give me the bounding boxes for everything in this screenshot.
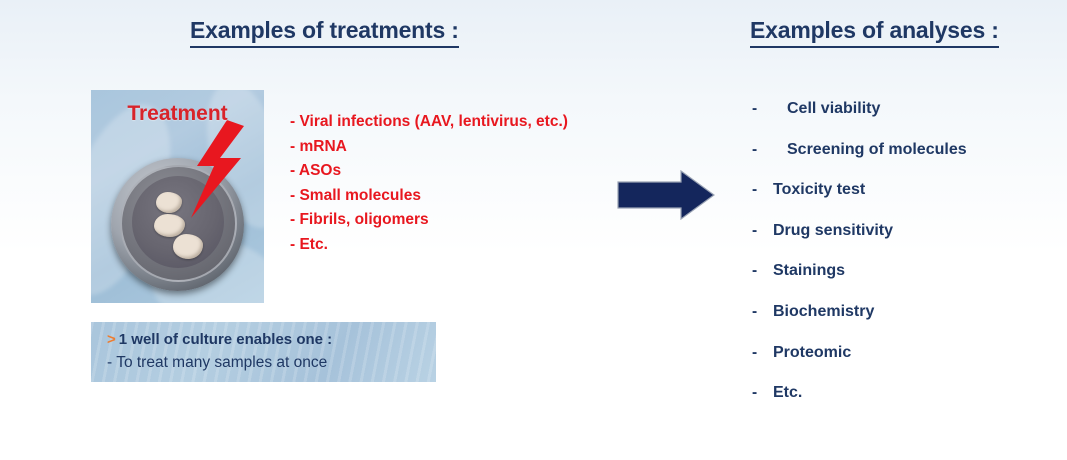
info-callout-box: >1 well of culture enables one : - To tr…	[91, 322, 436, 382]
list-item: - Small molecules	[290, 184, 568, 209]
treatment-photo-label: Treatment	[91, 102, 264, 126]
info-callout-headline: >1 well of culture enables one :	[107, 329, 436, 351]
heading-treatments-underline	[190, 46, 459, 48]
list-item-label: Toxicity test	[766, 181, 865, 199]
list-item: - Screening of molecules	[752, 141, 1052, 182]
heading-treatments-text: Examples of treatments :	[190, 17, 459, 43]
tissue-sample	[156, 192, 182, 213]
right-arrow-icon	[617, 170, 715, 220]
analyses-options-list: - Cell viability - Screening of molecule…	[752, 100, 1052, 425]
info-callout-detail: - To treat many samples at once	[107, 351, 436, 374]
list-bullet-dash: -	[752, 344, 766, 362]
list-item-label: Cell viability	[766, 100, 880, 118]
tissue-sample	[154, 214, 185, 237]
list-item: - mRNA	[290, 135, 568, 160]
list-item-label: Stainings	[766, 262, 845, 280]
list-item: - Stainings	[752, 262, 1052, 303]
list-bullet-dash: -	[752, 222, 766, 240]
page-title-treatments: Examples of treatments :	[190, 17, 459, 48]
list-bullet-dash: -	[752, 262, 766, 280]
list-item: - Toxicity test	[752, 181, 1052, 222]
list-item: - Cell viability	[752, 100, 1052, 141]
lightning-bolt-icon	[187, 120, 245, 218]
list-item-label: Screening of molecules	[766, 141, 967, 159]
list-item: - Fibrils, oligomers	[290, 208, 568, 233]
list-item: - Biochemistry	[752, 303, 1052, 344]
chevron-right-marker-icon: >	[107, 331, 116, 348]
list-bullet-dash: -	[752, 141, 766, 159]
treatment-photo: Treatment	[91, 90, 264, 303]
list-item: - Proteomic	[752, 344, 1052, 385]
list-item: - Drug sensitivity	[752, 222, 1052, 263]
list-bullet-dash: -	[752, 303, 766, 321]
list-item: - Etc.	[290, 233, 568, 258]
list-item-label: Etc.	[766, 384, 802, 402]
list-bullet-dash: -	[752, 181, 766, 199]
heading-analyses-text: Examples of analyses :	[750, 17, 999, 43]
list-item-label: Biochemistry	[766, 303, 874, 321]
list-bullet-dash: -	[752, 384, 766, 402]
page-title-analyses: Examples of analyses :	[750, 17, 999, 48]
heading-analyses-underline	[750, 46, 999, 48]
tissue-sample	[173, 234, 203, 259]
list-item-label: Drug sensitivity	[766, 222, 893, 240]
info-callout-headline-text: 1 well of culture enables one :	[119, 331, 332, 348]
treatment-options-list: - Viral infections (AAV, lentivirus, etc…	[290, 110, 568, 257]
list-item: - ASOs	[290, 159, 568, 184]
list-item: - Viral infections (AAV, lentivirus, etc…	[290, 110, 568, 135]
list-bullet-dash: -	[752, 100, 766, 118]
list-item: - Etc.	[752, 384, 1052, 425]
slide-canvas: Examples of treatments : Examples of ana…	[0, 0, 1067, 460]
list-item-label: Proteomic	[766, 344, 851, 362]
